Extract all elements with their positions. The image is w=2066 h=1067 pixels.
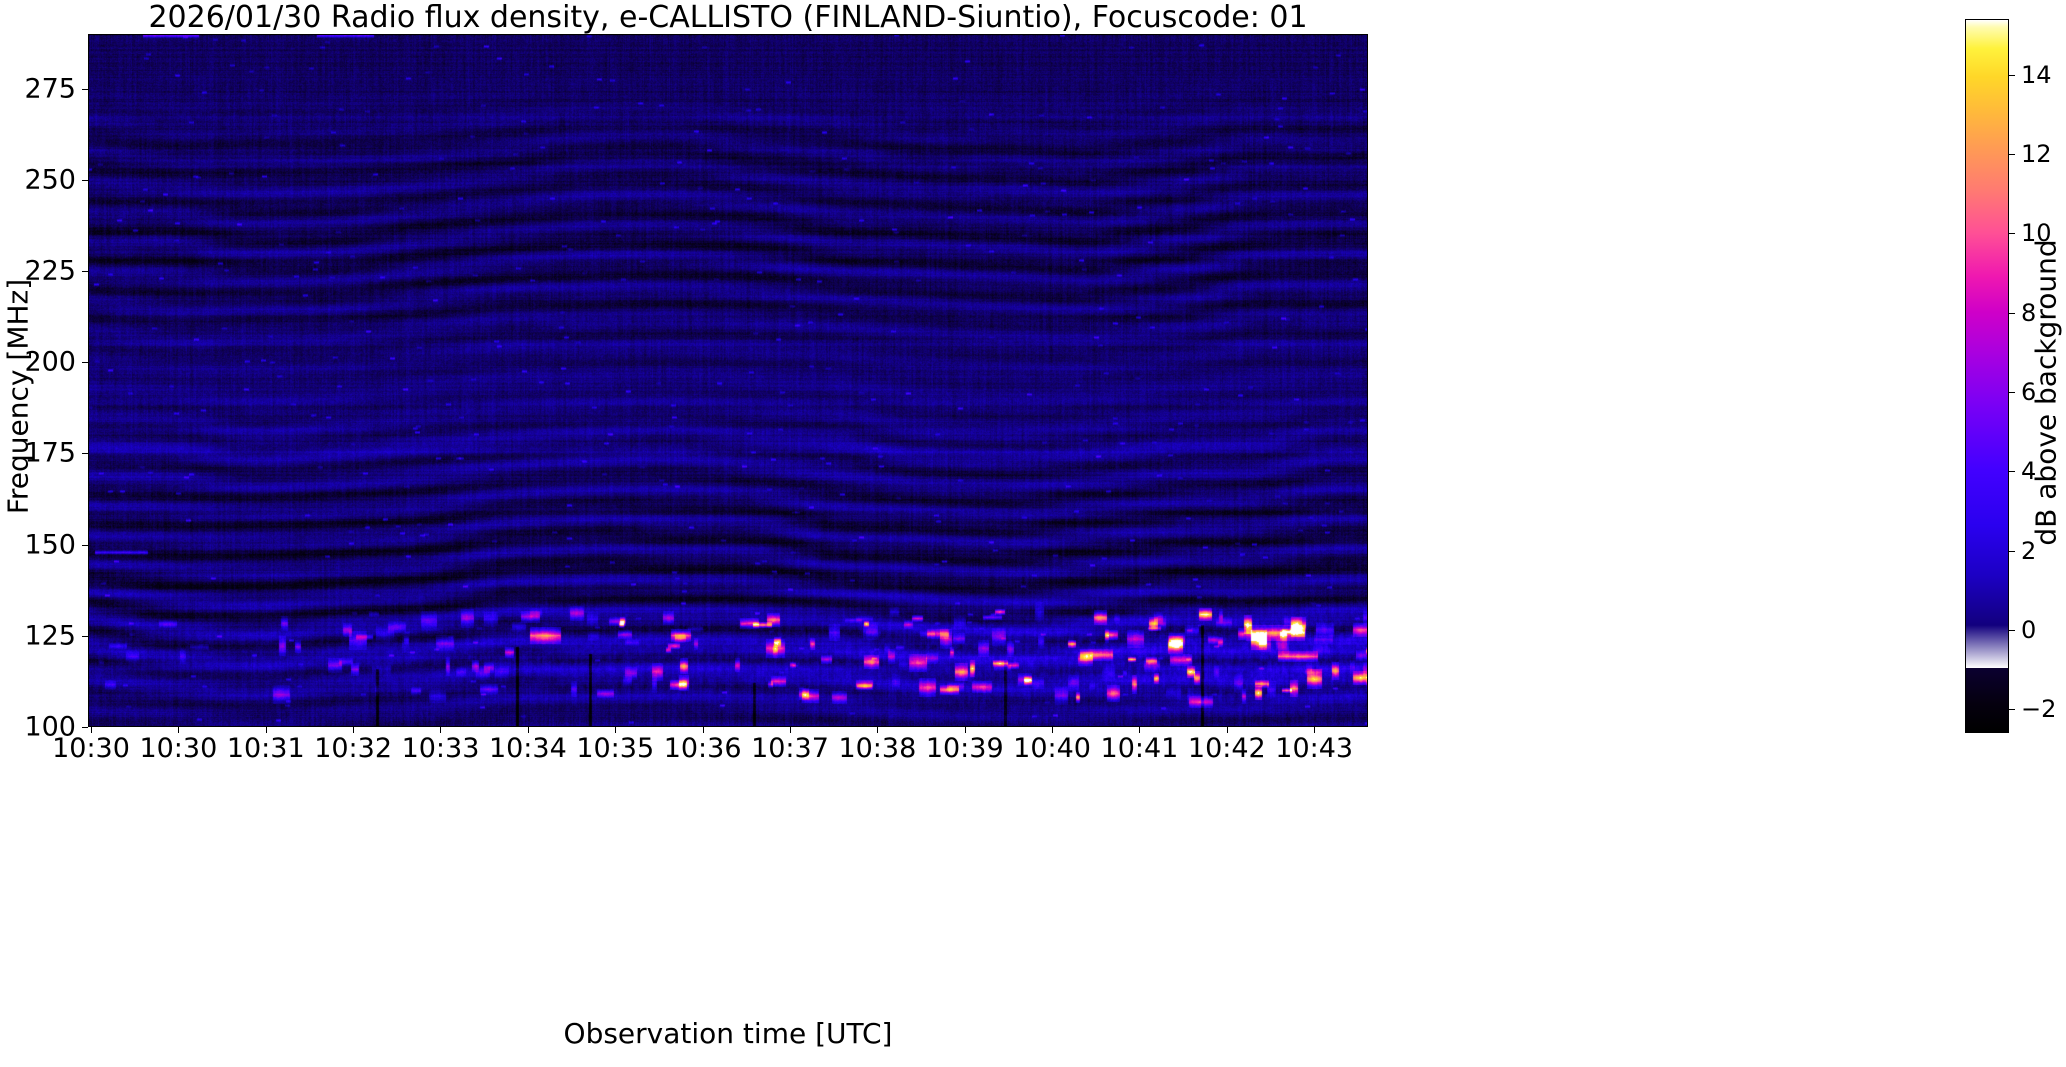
spectrogram-plot-area — [88, 34, 1368, 727]
y-tick-mark — [82, 636, 88, 637]
x-tick-mark — [528, 727, 529, 733]
x-tick-mark — [1314, 727, 1315, 733]
colorbar-tick-mark — [2009, 154, 2015, 155]
x-tick-label: 10:37 — [751, 734, 829, 764]
x-tick-mark — [178, 727, 179, 733]
colorbar-label: dB above background — [2030, 43, 2063, 743]
y-tick-mark — [82, 180, 88, 181]
x-tick-label: 10:33 — [402, 734, 480, 764]
colorbar: −202468101214 — [1965, 19, 2009, 733]
x-tick-label: 10:30 — [52, 734, 130, 764]
x-tick-mark — [965, 727, 966, 733]
colorbar-tick-mark — [2009, 551, 2015, 552]
x-tick-label: 10:35 — [576, 734, 654, 764]
x-tick-mark — [353, 727, 354, 733]
colorbar-tick-mark — [2009, 233, 2015, 234]
colorbar-tick-mark — [2009, 709, 2015, 710]
x-tick-label: 10:36 — [664, 734, 742, 764]
page-title: 2026/01/30 Radio flux density, e-CALLIST… — [88, 2, 1368, 34]
x-tick-mark — [877, 727, 878, 733]
colorbar-tick-mark — [2009, 471, 2015, 472]
x-tick-label: 10:42 — [1188, 734, 1266, 764]
x-axis-label: Observation time [UTC] — [88, 1017, 1368, 1050]
spectrogram-figure: 2026/01/30 Radio flux density, e-CALLIST… — [0, 0, 2066, 1067]
x-tick-label: 10:39 — [926, 734, 1004, 764]
x-tick-mark — [91, 727, 92, 733]
x-tick-mark — [1052, 727, 1053, 733]
y-tick-mark — [82, 362, 88, 363]
x-tick-mark — [1227, 727, 1228, 733]
y-tick-mark — [82, 727, 88, 728]
x-tick-label: 10:31 — [227, 734, 305, 764]
x-tick-label: 10:43 — [1275, 734, 1353, 764]
x-tick-mark — [703, 727, 704, 733]
y-tick-mark — [82, 89, 88, 90]
x-tick-label: 10:38 — [838, 734, 916, 764]
x-tick-mark — [615, 727, 616, 733]
x-tick-mark — [266, 727, 267, 733]
x-tick-label: 10:41 — [1101, 734, 1179, 764]
spectrogram-image — [89, 35, 1368, 727]
y-tick-mark — [82, 453, 88, 454]
y-axis-label: Frequency [MHz] — [2, 47, 35, 747]
x-tick-mark — [440, 727, 441, 733]
colorbar-gradient — [1965, 19, 2009, 733]
colorbar-tick-mark — [2009, 630, 2015, 631]
colorbar-tick-mark — [2009, 392, 2015, 393]
y-tick-mark — [82, 545, 88, 546]
y-tick-mark — [82, 271, 88, 272]
x-tick-label: 10:32 — [314, 734, 392, 764]
x-tick-mark — [1139, 727, 1140, 733]
colorbar-tick-mark — [2009, 75, 2015, 76]
colorbar-tick-mark — [2009, 313, 2015, 314]
x-tick-label: 10:30 — [139, 734, 217, 764]
x-tick-label: 10:40 — [1013, 734, 1091, 764]
x-tick-label: 10:34 — [489, 734, 567, 764]
x-tick-mark — [790, 727, 791, 733]
